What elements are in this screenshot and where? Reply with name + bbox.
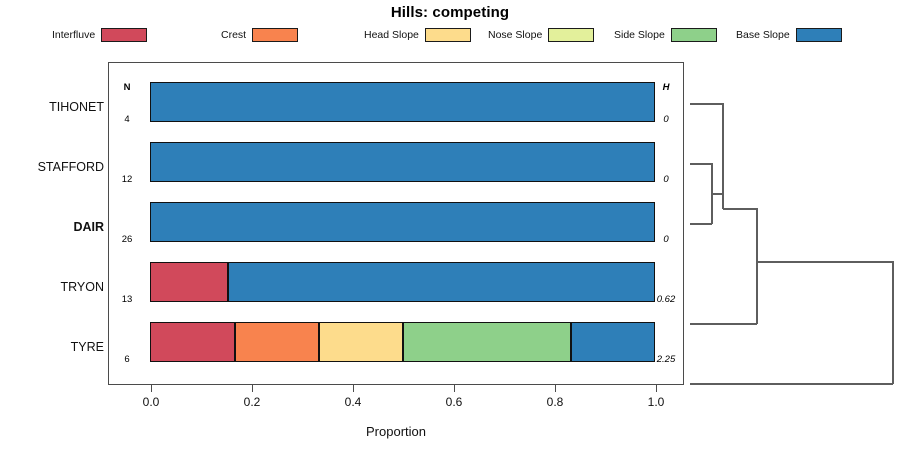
legend-swatch-nose-slope xyxy=(548,28,594,42)
x-axis-tick-label: 0.0 xyxy=(131,395,171,409)
legend-swatch-head-slope xyxy=(425,28,471,42)
h-value-tyre: 2.25 xyxy=(645,354,687,365)
y-axis-label-dair: DAIR xyxy=(4,220,104,234)
n-column: N 4 12 26 13 6 xyxy=(112,62,146,385)
y-axis-label-tihonet: TIHONET xyxy=(4,100,104,114)
x-axis-tick xyxy=(252,385,253,392)
n-value-tihonet: 4 xyxy=(112,114,142,125)
x-axis-tick-label: 0.2 xyxy=(232,395,272,409)
plot-area xyxy=(108,62,684,385)
legend-label: Nose Slope xyxy=(488,29,542,41)
legend-swatch-crest xyxy=(252,28,298,42)
legend-swatch-interfluve xyxy=(101,28,147,42)
legend-label: Head Slope xyxy=(364,29,419,41)
legend-label: Interfluve xyxy=(52,29,95,41)
n-value-tryon: 13 xyxy=(112,294,142,305)
x-axis-title: Proportion xyxy=(108,424,684,439)
legend-item-head-slope: Head Slope xyxy=(364,26,471,44)
legend: Interfluve Crest Head Slope Nose Slope S… xyxy=(52,26,852,46)
x-axis-tick xyxy=(151,385,152,392)
y-axis-label-tryon: TRYON xyxy=(4,280,104,294)
x-axis-tick xyxy=(353,385,354,392)
x-axis-tick-label: 0.4 xyxy=(333,395,373,409)
dendrogram xyxy=(690,62,900,385)
y-axis-label-stafford: STAFFORD xyxy=(4,160,104,174)
chart-root: Hills: competing Interfluve Crest Head S… xyxy=(0,0,900,460)
y-axis-label-tyre: TYRE xyxy=(4,340,104,354)
h-value-dair: 0 xyxy=(645,234,687,245)
x-axis-tick-label: 1.0 xyxy=(636,395,676,409)
legend-swatch-base-slope xyxy=(796,28,842,42)
y-axis-labels: TIHONET STAFFORD DAIR TRYON TYRE xyxy=(0,62,104,385)
h-value-tihonet: 0 xyxy=(645,114,687,125)
dendrogram-svg xyxy=(690,62,900,385)
x-axis: 0.00.20.40.60.81.0 xyxy=(108,385,684,425)
page-title: Hills: competing xyxy=(0,4,900,21)
x-axis-tick xyxy=(454,385,455,392)
h-column-header: H xyxy=(645,82,687,93)
x-axis-tick xyxy=(656,385,657,392)
x-axis-tick-label: 0.6 xyxy=(434,395,474,409)
h-value-stafford: 0 xyxy=(645,174,687,185)
legend-swatch-side-slope xyxy=(671,28,717,42)
n-value-dair: 26 xyxy=(112,234,142,245)
x-axis-tick-label: 0.8 xyxy=(535,395,575,409)
n-value-stafford: 12 xyxy=(112,174,142,185)
legend-item-interfluve: Interfluve xyxy=(52,26,147,44)
x-axis-tick xyxy=(555,385,556,392)
legend-label: Crest xyxy=(221,29,246,41)
legend-item-nose-slope: Nose Slope xyxy=(488,26,594,44)
h-value-tryon: 0.62 xyxy=(645,294,687,305)
legend-item-crest: Crest xyxy=(221,26,298,44)
legend-item-base-slope: Base Slope xyxy=(736,26,842,44)
dendrogram-node-root xyxy=(757,262,893,384)
dendrogram-node-upper-cluster xyxy=(723,209,757,324)
n-value-tyre: 6 xyxy=(112,354,142,365)
legend-item-side-slope: Side Slope xyxy=(614,26,717,44)
legend-label: Side Slope xyxy=(614,29,665,41)
n-column-header: N xyxy=(112,82,142,93)
h-column: H 0 0 0 0.62 2.25 xyxy=(645,62,689,385)
legend-label: Base Slope xyxy=(736,29,790,41)
dendrogram-branch-stafford xyxy=(690,164,712,224)
